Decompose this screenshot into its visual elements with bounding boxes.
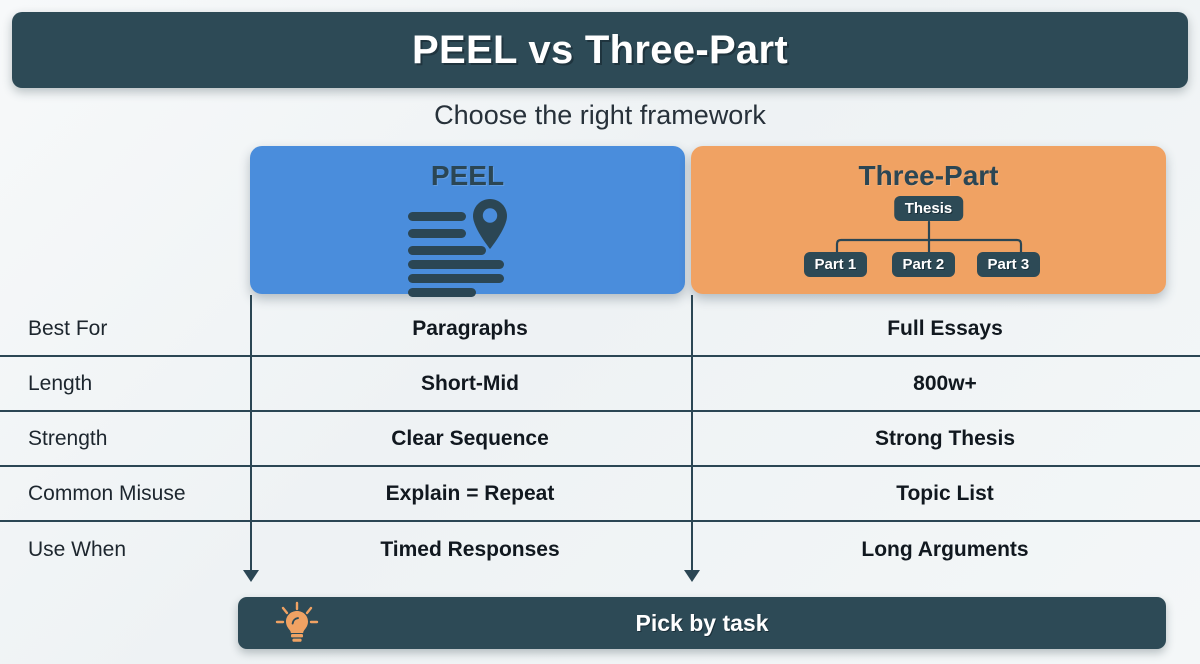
subtitle: Choose the right framework bbox=[0, 100, 1200, 131]
row-value-three-part: Strong Thesis bbox=[690, 427, 1200, 451]
column-divider-peel bbox=[250, 295, 252, 575]
document-lines-pin-icon bbox=[408, 198, 528, 286]
footer-bar[interactable]: Pick by task bbox=[238, 597, 1166, 649]
row-value-peel: Clear Sequence bbox=[250, 427, 690, 451]
row-label: Common Misuse bbox=[0, 482, 250, 506]
card-peel-title: PEEL bbox=[431, 160, 504, 192]
table-row: Common Misuse Explain = Repeat Topic Lis… bbox=[0, 467, 1200, 522]
arrow-down-icon-three-part bbox=[684, 570, 700, 582]
row-value-peel: Explain = Repeat bbox=[250, 482, 690, 506]
header-bar: PEEL vs Three-Part bbox=[12, 12, 1188, 88]
row-value-three-part: Topic List bbox=[690, 482, 1200, 506]
row-value-peel: Timed Responses bbox=[250, 538, 690, 562]
row-label: Strength bbox=[0, 427, 250, 451]
row-label: Length bbox=[0, 372, 250, 396]
card-peel[interactable]: PEEL bbox=[250, 146, 685, 294]
arrow-down-icon-peel bbox=[243, 570, 259, 582]
tree-node-thesis[interactable]: Thesis bbox=[894, 196, 964, 221]
lightbulb-icon bbox=[274, 601, 320, 645]
row-value-three-part: Full Essays bbox=[690, 317, 1200, 341]
infographic-canvas: PEEL vs Three-Part Choose the right fram… bbox=[0, 0, 1200, 664]
map-pin-icon bbox=[470, 198, 510, 250]
footer-text: Pick by task bbox=[636, 610, 769, 637]
table-row: Strength Clear Sequence Strong Thesis bbox=[0, 412, 1200, 467]
table-row: Best For Paragraphs Full Essays bbox=[0, 302, 1200, 357]
table-row: Length Short-Mid 800w+ bbox=[0, 357, 1200, 412]
tree-node-part-1[interactable]: Part 1 bbox=[804, 252, 868, 277]
row-label: Best For bbox=[0, 317, 250, 341]
tree-node-part-3[interactable]: Part 3 bbox=[977, 252, 1041, 277]
column-divider-three-part bbox=[691, 295, 693, 575]
hierarchy-tree-icon: Thesis Part 1 Part 2 Part 3 bbox=[809, 196, 1049, 286]
card-three-part[interactable]: Three-Part Thesis Part 1 Part 2 Part 3 bbox=[691, 146, 1166, 294]
comparison-table: Best For Paragraphs Full Essays Length S… bbox=[0, 302, 1200, 577]
row-value-three-part: Long Arguments bbox=[690, 538, 1200, 562]
table-row: Use When Timed Responses Long Arguments bbox=[0, 522, 1200, 577]
row-label: Use When bbox=[0, 538, 250, 562]
row-value-three-part: 800w+ bbox=[690, 372, 1200, 396]
card-three-part-title: Three-Part bbox=[858, 160, 998, 192]
tree-node-part-2[interactable]: Part 2 bbox=[892, 252, 956, 277]
row-value-peel: Paragraphs bbox=[250, 317, 690, 341]
row-value-peel: Short-Mid bbox=[250, 372, 690, 396]
page-title: PEEL vs Three-Part bbox=[412, 28, 788, 73]
